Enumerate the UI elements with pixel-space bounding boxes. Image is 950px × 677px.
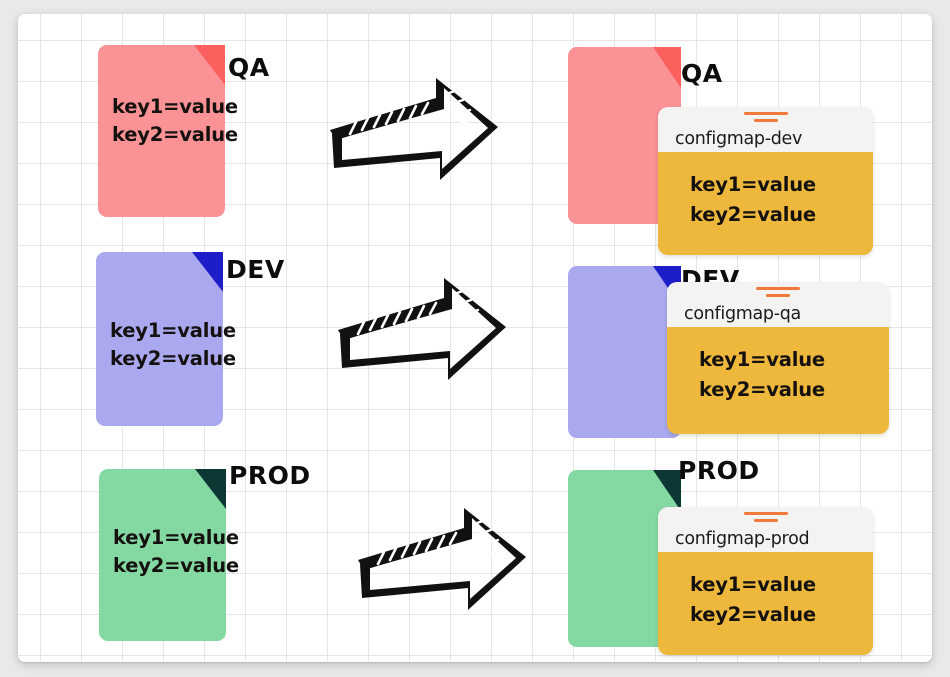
source-document-qa: key1=value key2=value [98, 45, 225, 217]
transform-arrow-prod [348, 502, 534, 626]
configmap-lines-icon [743, 512, 789, 522]
configmap-body: key1=value key2=value [658, 152, 873, 255]
configmap-lines-icon [755, 287, 801, 297]
source-document-dev-text: key1=value key2=value [110, 317, 215, 374]
folded-corner-icon [653, 47, 681, 88]
diagram-page: key1=value key2=value QA [0, 0, 950, 677]
env-label-qa-target: QA [681, 59, 723, 88]
source-document-qa-text: key1=value key2=value [112, 93, 217, 150]
transform-arrow-qa [320, 72, 506, 196]
transform-arrow-dev [328, 272, 514, 396]
whiteboard-canvas: key1=value key2=value QA [18, 14, 932, 662]
source-document-dev: key1=value key2=value [96, 252, 223, 426]
folded-corner-icon [653, 470, 681, 511]
target-document-dev [568, 266, 681, 438]
configmap-title: configmap-prod [675, 529, 809, 549]
configmap-card-qa[interactable]: configmap-qa key1=value key2=value [667, 282, 889, 434]
folded-corner-icon [194, 45, 225, 85]
configmap-title: configmap-dev [675, 129, 802, 149]
source-document-prod: key1=value key2=value [99, 469, 226, 641]
env-label-qa: QA [228, 53, 270, 82]
folded-corner-icon [192, 252, 223, 292]
env-label-prod-target: PROD [678, 456, 760, 485]
configmap-body: key1=value key2=value [667, 327, 889, 434]
configmap-header: configmap-qa [667, 282, 889, 327]
configmap-lines-icon [743, 112, 789, 122]
configmap-header: configmap-dev [658, 107, 873, 152]
configmap-body: key1=value key2=value [658, 552, 873, 655]
configmap-title: configmap-qa [684, 304, 801, 324]
folded-corner-icon [195, 469, 226, 509]
env-label-prod: PROD [229, 461, 311, 490]
env-label-dev: DEV [226, 255, 285, 284]
configmap-card-prod[interactable]: configmap-prod key1=value key2=value [658, 507, 873, 655]
configmap-card-dev[interactable]: configmap-dev key1=value key2=value [658, 107, 873, 255]
source-document-prod-text: key1=value key2=value [113, 524, 218, 581]
configmap-header: configmap-prod [658, 507, 873, 552]
